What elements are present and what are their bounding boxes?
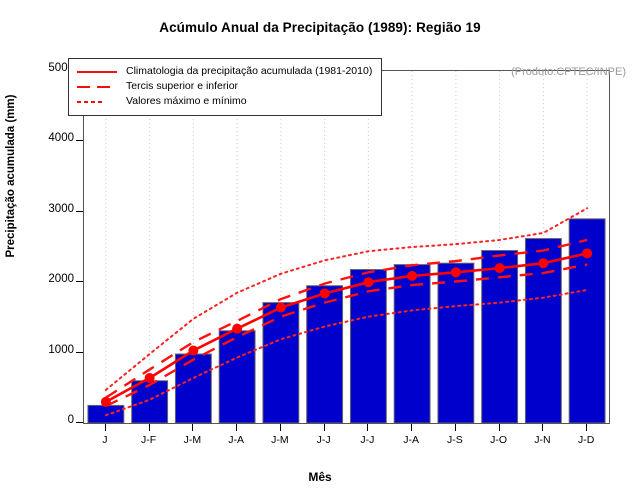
x-tick-mark: [586, 424, 587, 431]
climatology-marker: [582, 248, 592, 258]
x-tick-mark: [105, 424, 106, 431]
y-tick-label: 0: [28, 414, 74, 426]
climatology-marker: [101, 397, 111, 407]
legend-dashed-line-icon: [77, 81, 117, 93]
bar: [438, 263, 474, 423]
x-tick-label: J-A: [214, 434, 258, 446]
y-tick-label: 2000: [28, 273, 74, 285]
y-tick-mark: [76, 211, 83, 212]
chart-title: Acúmulo Anual da Precipitação (1989): Re…: [0, 20, 640, 35]
legend-label-extremes: Valores máximo e mínimo: [126, 95, 247, 108]
y-tick-mark: [76, 140, 83, 141]
y-axis-label: Precipitação acumulada (mm): [5, 0, 17, 426]
x-tick-mark: [499, 424, 500, 431]
legend-solid-line-icon: [77, 66, 117, 78]
y-tick-mark: [76, 352, 83, 353]
y-tick-label: 1000: [28, 344, 74, 356]
x-tick-mark: [455, 424, 456, 431]
bar: [132, 381, 168, 423]
x-tick-label: J-F: [127, 434, 171, 446]
y-tick-mark: [76, 281, 83, 282]
x-tick-mark: [192, 424, 193, 431]
legend-item-extremes: Valores máximo e mínimo: [77, 94, 372, 109]
y-tick-mark: [76, 422, 83, 423]
chart-root: Acúmulo Anual da Precipitação (1989): Re…: [0, 0, 640, 500]
x-tick-label: J-J: [302, 434, 346, 446]
x-tick-mark: [411, 424, 412, 431]
plot-canvas: [84, 71, 609, 423]
climatology-marker: [451, 267, 461, 277]
legend-dotted-line-icon: [77, 96, 117, 108]
x-tick-mark: [149, 424, 150, 431]
x-axis-label: Mês: [0, 470, 640, 484]
bar: [394, 265, 430, 423]
climatology-marker: [538, 258, 548, 268]
x-tick-label: J-O: [477, 434, 521, 446]
x-tick-mark: [367, 424, 368, 431]
climatology-marker: [407, 271, 417, 281]
legend-item-climatology: Climatologia da precipitação acumulada (…: [77, 64, 372, 79]
climatology-marker: [145, 373, 155, 383]
y-tick-label: 4000: [28, 132, 74, 144]
product-watermark: (Produto:CPTEC/INPE): [511, 66, 626, 78]
plot-area: [83, 70, 610, 424]
x-tick-label: J-J: [345, 434, 389, 446]
x-tick-mark: [280, 424, 281, 431]
x-tick-label: J-D: [564, 434, 608, 446]
x-tick-label: J-N: [520, 434, 564, 446]
legend-label-terciles: Tercis superior e inferior: [126, 80, 238, 93]
bar: [263, 303, 299, 423]
climatology-marker: [188, 345, 198, 355]
x-tick-mark: [236, 424, 237, 431]
x-tick-label: J: [83, 434, 127, 446]
x-tick-label: J-A: [389, 434, 433, 446]
climatology-marker: [363, 277, 373, 287]
legend-label-climatology: Climatologia da precipitação acumulada (…: [126, 65, 372, 78]
climatology-marker: [320, 288, 330, 298]
climatology-marker: [276, 303, 286, 313]
x-tick-mark: [542, 424, 543, 431]
climatology-marker: [495, 263, 505, 273]
x-tick-label: J-M: [258, 434, 302, 446]
bar: [175, 354, 211, 423]
y-tick-label: 3000: [28, 203, 74, 215]
x-tick-label: J-M: [170, 434, 214, 446]
x-tick-label: J-S: [433, 434, 477, 446]
chart-legend: Climatologia da precipitação acumulada (…: [68, 58, 382, 116]
climatology-marker: [232, 324, 242, 334]
x-tick-mark: [324, 424, 325, 431]
legend-item-terciles: Tercis superior e inferior: [77, 79, 372, 94]
